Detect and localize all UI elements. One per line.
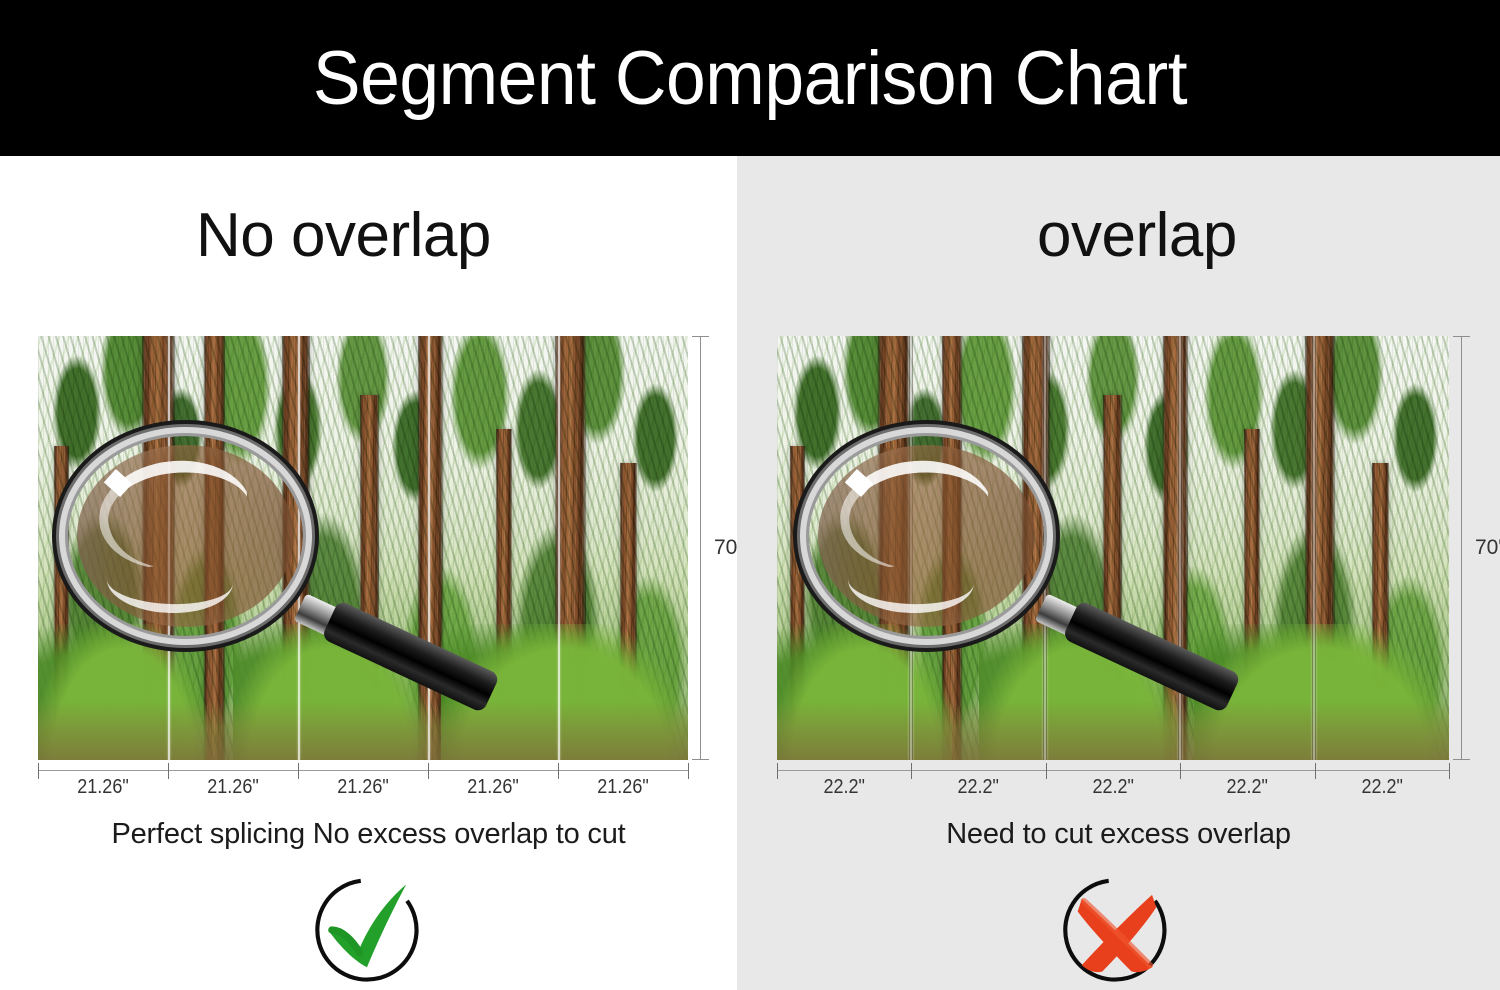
dimension-tick xyxy=(168,763,169,779)
segment-label: 22.2" xyxy=(1321,776,1442,799)
panel-seam-overlap xyxy=(909,336,913,760)
title-banner: Segment Comparison Chart xyxy=(0,0,1500,156)
panel-heading-right: overlap xyxy=(1037,200,1237,271)
caption-left: Perfect splicing No excess overlap to cu… xyxy=(0,818,737,851)
dimension-line xyxy=(1461,336,1462,760)
caption-right: Need to cut excess overlap xyxy=(737,818,1500,851)
segment-label: 22.2" xyxy=(918,776,1039,799)
dimension-tick xyxy=(1449,763,1450,779)
forest-mural-image-left xyxy=(38,336,688,760)
dimension-tick xyxy=(558,763,559,779)
dimension-tick xyxy=(1046,763,1047,779)
segment-label: 21.26" xyxy=(435,776,552,799)
height-dimension-right: 70" xyxy=(1453,336,1471,760)
panel-seam xyxy=(298,336,300,760)
panel-seam xyxy=(428,336,430,760)
dimension-axis xyxy=(38,770,688,771)
segment-label: 21.26" xyxy=(305,776,422,799)
segment-label: 22.2" xyxy=(784,776,905,799)
forest-floor xyxy=(777,701,1449,760)
mural-no-overlap xyxy=(38,336,688,760)
dimension-cap xyxy=(692,759,709,760)
red-cross-icon xyxy=(1057,868,1181,990)
panel-overlap: overlap xyxy=(737,156,1500,990)
segment-label: 21.26" xyxy=(45,776,162,799)
dimension-tick xyxy=(298,763,299,779)
green-check-icon xyxy=(307,868,431,990)
dimension-tick xyxy=(688,763,689,779)
dimension-tick xyxy=(38,763,39,779)
dimension-tick xyxy=(1315,763,1316,779)
segment-label: 21.26" xyxy=(175,776,292,799)
dimension-tick xyxy=(1180,763,1181,779)
forest-floor xyxy=(38,701,688,760)
segment-label: 22.2" xyxy=(1187,776,1308,799)
segment-label: 22.2" xyxy=(1053,776,1174,799)
height-dimension-left: 70" xyxy=(692,336,710,760)
poster-root: Segment Comparison Chart No overlap xyxy=(0,0,1500,990)
panel-seam-overlap xyxy=(1178,336,1182,760)
panel-seam-overlap xyxy=(1312,336,1316,760)
dimension-cap xyxy=(1453,759,1470,760)
dimension-tick xyxy=(911,763,912,779)
mural-overlap xyxy=(777,336,1449,760)
height-label-right: 70" xyxy=(1475,536,1500,560)
dimension-tick xyxy=(428,763,429,779)
panel-seam-overlap xyxy=(1043,336,1047,760)
segment-label: 21.26" xyxy=(565,776,682,799)
forest-mural-image-right xyxy=(777,336,1449,760)
dimension-tick xyxy=(777,763,778,779)
panel-no-overlap: No overlap xyxy=(0,156,737,990)
panel-seam xyxy=(558,336,560,760)
panel-heading-left: No overlap xyxy=(196,200,491,271)
dimension-line xyxy=(700,336,701,760)
dimension-axis xyxy=(777,770,1449,771)
panel-seam xyxy=(168,336,170,760)
page-title: Segment Comparison Chart xyxy=(313,35,1187,122)
